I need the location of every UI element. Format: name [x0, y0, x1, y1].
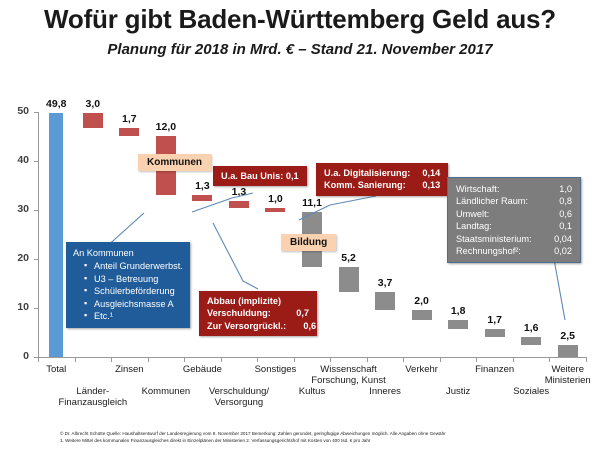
- callout-row: Wirtschaft: 1,0: [456, 183, 572, 195]
- callout-abbau[interactable]: Abbau (implizite) Verschuldung: 0,7 Zur …: [199, 291, 317, 336]
- list-item: Etc.¹: [85, 310, 183, 322]
- callout-key: Wirtschaft:: [456, 183, 507, 195]
- callout-value: 1,0: [550, 183, 572, 195]
- callout-value: 0,1: [550, 220, 572, 232]
- footer: © Dr. Albrecht Schütte Quelle: Haushalts…: [60, 430, 560, 445]
- callout-row: Staatsministerium: 0,04: [456, 233, 572, 245]
- callout-heading: Abbau (implizite): [207, 295, 309, 307]
- callout-key: Staatsministerium:: [456, 233, 540, 245]
- callout-key: Zur Versorgrückl.:: [207, 320, 294, 332]
- callout-row: Zur Versorgrückl.: 0,6: [207, 320, 309, 332]
- callout-value: 0,6: [550, 208, 572, 220]
- callout-key: U.a. Digitalisierung:: [324, 167, 418, 179]
- callout-value: 0,04: [550, 233, 572, 245]
- callout-weitere-ministerien[interactable]: Wirtschaft: 1,0 Ländlicher Raum: 0,8 Umw…: [447, 177, 581, 263]
- callout-list: Anteil Grunderwerbst. U3 – Betreuung Sch…: [73, 260, 183, 322]
- callout-value: 0,14: [418, 167, 440, 179]
- callout-row: Umwelt: 0,6: [456, 208, 572, 220]
- list-item: Schülerbeförderung: [85, 285, 183, 297]
- list-item: Anteil Grunderwerbst.: [85, 260, 183, 272]
- callout-row: Rechnungshof²: 0,02: [456, 245, 572, 257]
- callout-key: Verschuldung:: [207, 307, 279, 319]
- chart-page: Wofür gibt Baden-Württemberg Geld aus? P…: [0, 0, 600, 454]
- callout-digitalisierung[interactable]: U.a. Digitalisierung: 0,14 Komm. Sanieru…: [316, 163, 448, 196]
- callout-value: 0,02: [550, 245, 572, 257]
- callout-key: Ländlicher Raum:: [456, 195, 536, 207]
- callout-row: Komm. Sanierung: 0,13: [324, 179, 440, 191]
- footer-line-2: 1. Weitere Mittel des kommunalen Finanza…: [60, 437, 560, 444]
- callout-key: Komm. Sanierung:: [324, 179, 414, 191]
- callout-value: 0,8: [550, 195, 572, 207]
- callout-row: Verschuldung: 0,7: [207, 307, 309, 319]
- footer-line-1: © Dr. Albrecht Schütte Quelle: Haushalts…: [60, 430, 560, 437]
- callout-text: U.a. Bau Unis: 0,1: [221, 171, 299, 181]
- callout-value: 0,7: [287, 307, 309, 319]
- list-item: Ausgleichsmasse A: [85, 298, 183, 310]
- callout-value: 0,6: [294, 320, 316, 332]
- callout-value: 0,13: [418, 179, 440, 191]
- tag-kommunen[interactable]: Kommunen: [138, 154, 211, 171]
- tag-bildung[interactable]: Bildung: [281, 234, 336, 251]
- callout-bau-unis[interactable]: U.a. Bau Unis: 0,1: [213, 166, 307, 186]
- callout-key: Rechnungshof²:: [456, 245, 529, 257]
- callout-row: Ländlicher Raum: 0,8: [456, 195, 572, 207]
- callout-key: Umwelt:: [456, 208, 497, 220]
- callout-key: Landtag:: [456, 220, 500, 232]
- callout-row: Landtag: 0,1: [456, 220, 572, 232]
- callout-heading: An Kommunen: [73, 247, 183, 259]
- callout-row: U.a. Digitalisierung: 0,14: [324, 167, 440, 179]
- list-item: U3 – Betreuung: [85, 273, 183, 285]
- callout-an-kommunen[interactable]: An Kommunen Anteil Grunderwerbst. U3 – B…: [66, 242, 190, 328]
